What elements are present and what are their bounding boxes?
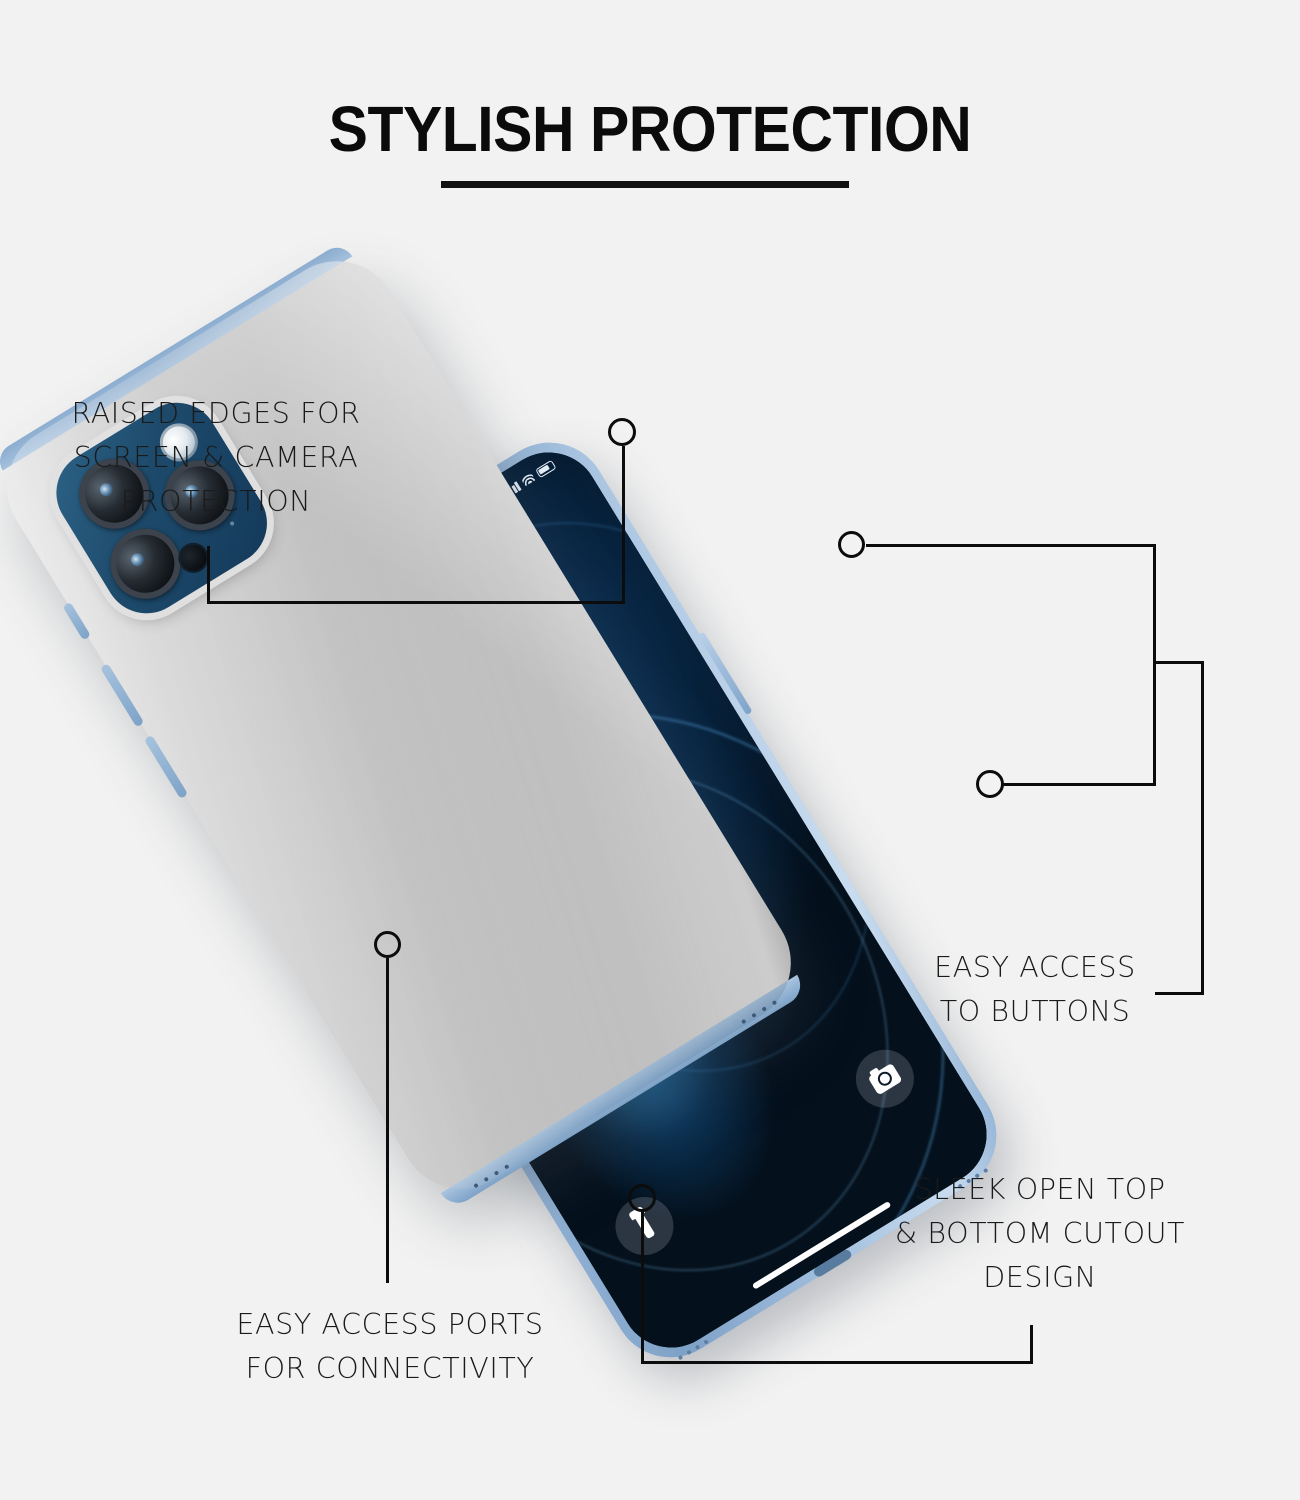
- callout-ports-leader-v: [386, 958, 389, 1283]
- callout-buttons-leader-h4: [1155, 992, 1204, 995]
- callout-marker-side-button: [976, 770, 1004, 798]
- callout-raised-edges-leader-h: [207, 601, 625, 604]
- callout-buttons-leader-h3: [1153, 661, 1204, 664]
- callout-buttons-leader-v1: [1153, 544, 1156, 786]
- callout-buttons-leader-v2: [1201, 661, 1204, 995]
- callout-raised-edges-leader-v1: [207, 546, 210, 604]
- flashlight-icon: [634, 1213, 655, 1240]
- callout-cutout-label: SLEEK OPEN TOP & BOTTOM CUTOUT DESIGN: [880, 1168, 1200, 1300]
- callout-cutout-leader-v2: [1030, 1325, 1033, 1364]
- camera-icon: [867, 1062, 902, 1095]
- callout-ports-label: EASY ACCESS PORTS FOR CONNECTIVITY: [205, 1303, 575, 1391]
- callout-buttons-leader-h1: [866, 544, 1156, 547]
- callout-buttons-leader-h2: [1003, 783, 1156, 786]
- callout-cutout-leader-h: [641, 1361, 1033, 1364]
- callout-marker-port-cutout: [374, 931, 401, 958]
- callout-raised-edges-leader-v2: [622, 446, 625, 603]
- callout-buttons-label: EASY ACCESS TO BUTTONS: [870, 946, 1200, 1034]
- callout-marker-top-button: [838, 531, 865, 558]
- callout-raised-edges-label: RAISED EDGES FOR SCREEN & CAMERA PROTECT…: [24, 392, 408, 524]
- callout-cutout-leader-v1: [641, 1210, 644, 1364]
- callout-marker-bottom-cutout: [628, 1184, 656, 1212]
- callout-marker-camera-cutout: [608, 418, 636, 446]
- infographic-canvas: STYLISH PROTECTION: [0, 0, 1300, 1500]
